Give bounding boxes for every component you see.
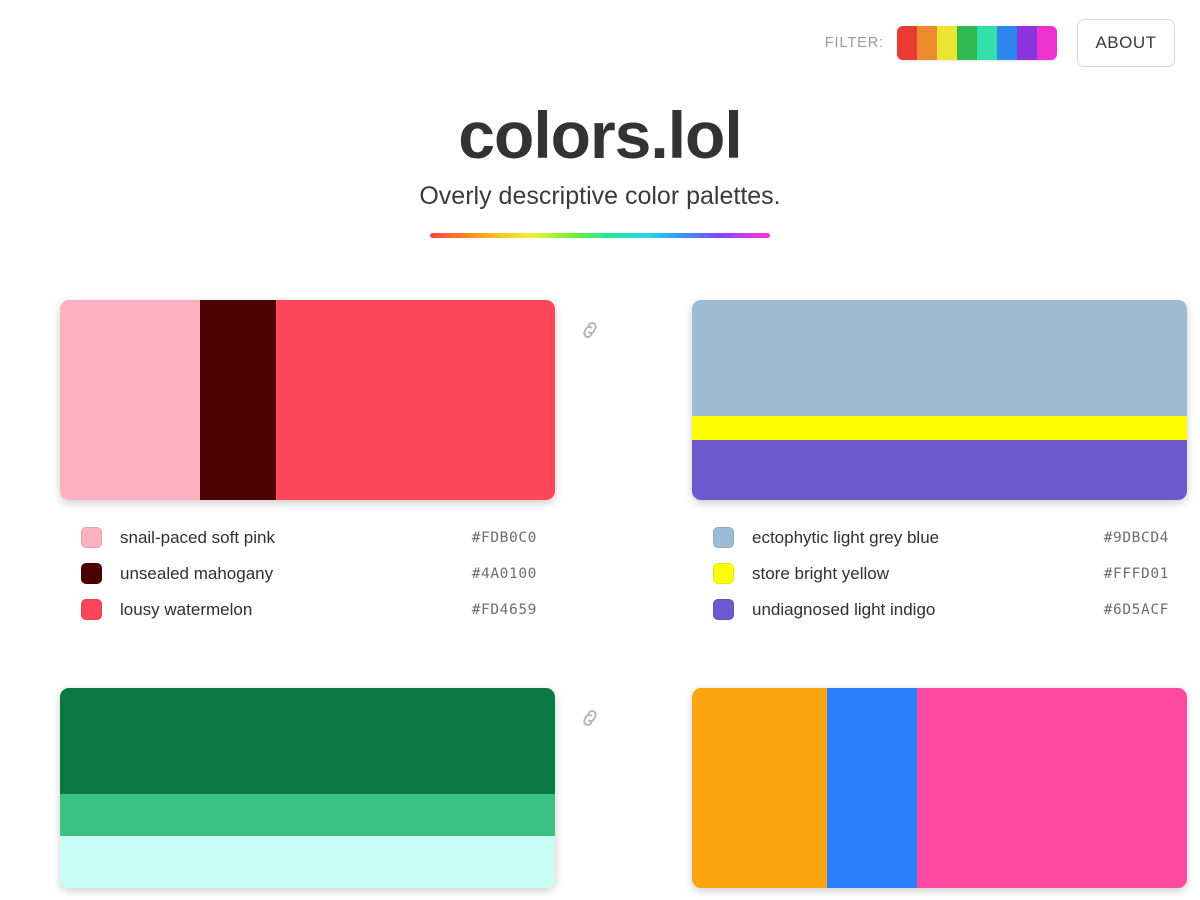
color-name: store bright yellow bbox=[752, 564, 889, 584]
color-chip bbox=[81, 527, 102, 548]
link-icon[interactable] bbox=[578, 706, 602, 730]
palette-card: ectophytic light grey blue#9DBCD4store b… bbox=[692, 300, 1200, 688]
palette-swatch-block[interactable] bbox=[692, 300, 1187, 500]
page-tagline: Overly descriptive color palettes. bbox=[0, 183, 1200, 211]
link-icon[interactable] bbox=[578, 318, 602, 342]
color-row[interactable]: unsealed mahogany#4A0100 bbox=[60, 556, 555, 592]
color-name: undiagnosed light indigo bbox=[752, 600, 935, 620]
palette-card-top bbox=[692, 300, 1200, 500]
color-chip bbox=[713, 527, 734, 548]
masthead: colors.lol Overly descriptive color pale… bbox=[0, 67, 1200, 238]
color-row[interactable]: snail-paced soft pink#FDB0C0 bbox=[60, 520, 555, 556]
filter-yellow[interactable] bbox=[937, 26, 957, 60]
rainbow-divider bbox=[430, 233, 770, 238]
palette-band[interactable] bbox=[60, 300, 200, 500]
palette-band[interactable] bbox=[276, 300, 555, 500]
color-row[interactable]: lousy watermelon#FD4659 bbox=[60, 592, 555, 628]
color-list: ectophytic light grey blue#9DBCD4store b… bbox=[692, 520, 1187, 628]
color-hex: #FFFD01 bbox=[1104, 566, 1169, 582]
filter-orange[interactable] bbox=[917, 26, 937, 60]
page-root: FILTER: ABOUT colors.lol Overly descript… bbox=[0, 0, 1200, 900]
color-hex: #4A0100 bbox=[472, 566, 537, 582]
about-button[interactable]: ABOUT bbox=[1077, 19, 1175, 67]
color-name: unsealed mahogany bbox=[120, 564, 273, 584]
palette-band[interactable] bbox=[60, 688, 555, 794]
palette-band[interactable] bbox=[60, 794, 555, 836]
color-chip bbox=[81, 563, 102, 584]
page-title: colors.lol bbox=[0, 100, 1200, 171]
palette-band[interactable] bbox=[200, 300, 276, 500]
filter-green[interactable] bbox=[957, 26, 977, 60]
color-chip bbox=[713, 563, 734, 584]
palette-swatch-block[interactable] bbox=[60, 688, 555, 888]
palette-band[interactable] bbox=[692, 416, 1187, 440]
filter-group: FILTER: bbox=[825, 26, 1057, 60]
palette-card-top bbox=[60, 688, 602, 888]
palette-band[interactable] bbox=[692, 688, 827, 888]
color-row[interactable]: undiagnosed light indigo#6D5ACF bbox=[692, 592, 1187, 628]
palette-swatch-block[interactable] bbox=[60, 300, 555, 500]
palette-band[interactable] bbox=[827, 688, 917, 888]
color-chip bbox=[713, 599, 734, 620]
filter-red[interactable] bbox=[897, 26, 917, 60]
palette-band[interactable] bbox=[692, 300, 1187, 416]
palette-card bbox=[60, 688, 602, 888]
color-row[interactable]: ectophytic light grey blue#9DBCD4 bbox=[692, 520, 1187, 556]
palette-swatch-block[interactable] bbox=[692, 688, 1187, 888]
color-row[interactable]: store bright yellow#FFFD01 bbox=[692, 556, 1187, 592]
palette-band[interactable] bbox=[60, 836, 555, 888]
color-name: snail-paced soft pink bbox=[120, 528, 275, 548]
row-spacer bbox=[60, 628, 602, 688]
palette-grid: snail-paced soft pink#FDB0C0unsealed mah… bbox=[0, 300, 1200, 888]
filter-teal[interactable] bbox=[977, 26, 997, 60]
color-hex: #FDB0C0 bbox=[472, 530, 537, 546]
color-name: ectophytic light grey blue bbox=[752, 528, 939, 548]
color-hex: #9DBCD4 bbox=[1104, 530, 1169, 546]
filter-magenta[interactable] bbox=[1037, 26, 1057, 60]
color-name: lousy watermelon bbox=[120, 600, 252, 620]
row-spacer bbox=[692, 628, 1200, 688]
palette-band[interactable] bbox=[692, 440, 1187, 500]
filter-label: FILTER: bbox=[825, 35, 884, 51]
color-hex: #FD4659 bbox=[472, 602, 537, 618]
palette-card: snail-paced soft pink#FDB0C0unsealed mah… bbox=[60, 300, 602, 688]
filter-blue[interactable] bbox=[997, 26, 1017, 60]
color-chip bbox=[81, 599, 102, 620]
color-hex: #6D5ACF bbox=[1104, 602, 1169, 618]
palette-band[interactable] bbox=[917, 688, 1187, 888]
palette-card-top bbox=[692, 688, 1200, 888]
palette-card bbox=[692, 688, 1200, 888]
palette-card-top bbox=[60, 300, 602, 500]
color-list: snail-paced soft pink#FDB0C0unsealed mah… bbox=[60, 520, 555, 628]
top-bar: FILTER: ABOUT bbox=[0, 0, 1200, 67]
filter-purple[interactable] bbox=[1017, 26, 1037, 60]
filter-swatch-bar[interactable] bbox=[897, 26, 1057, 60]
